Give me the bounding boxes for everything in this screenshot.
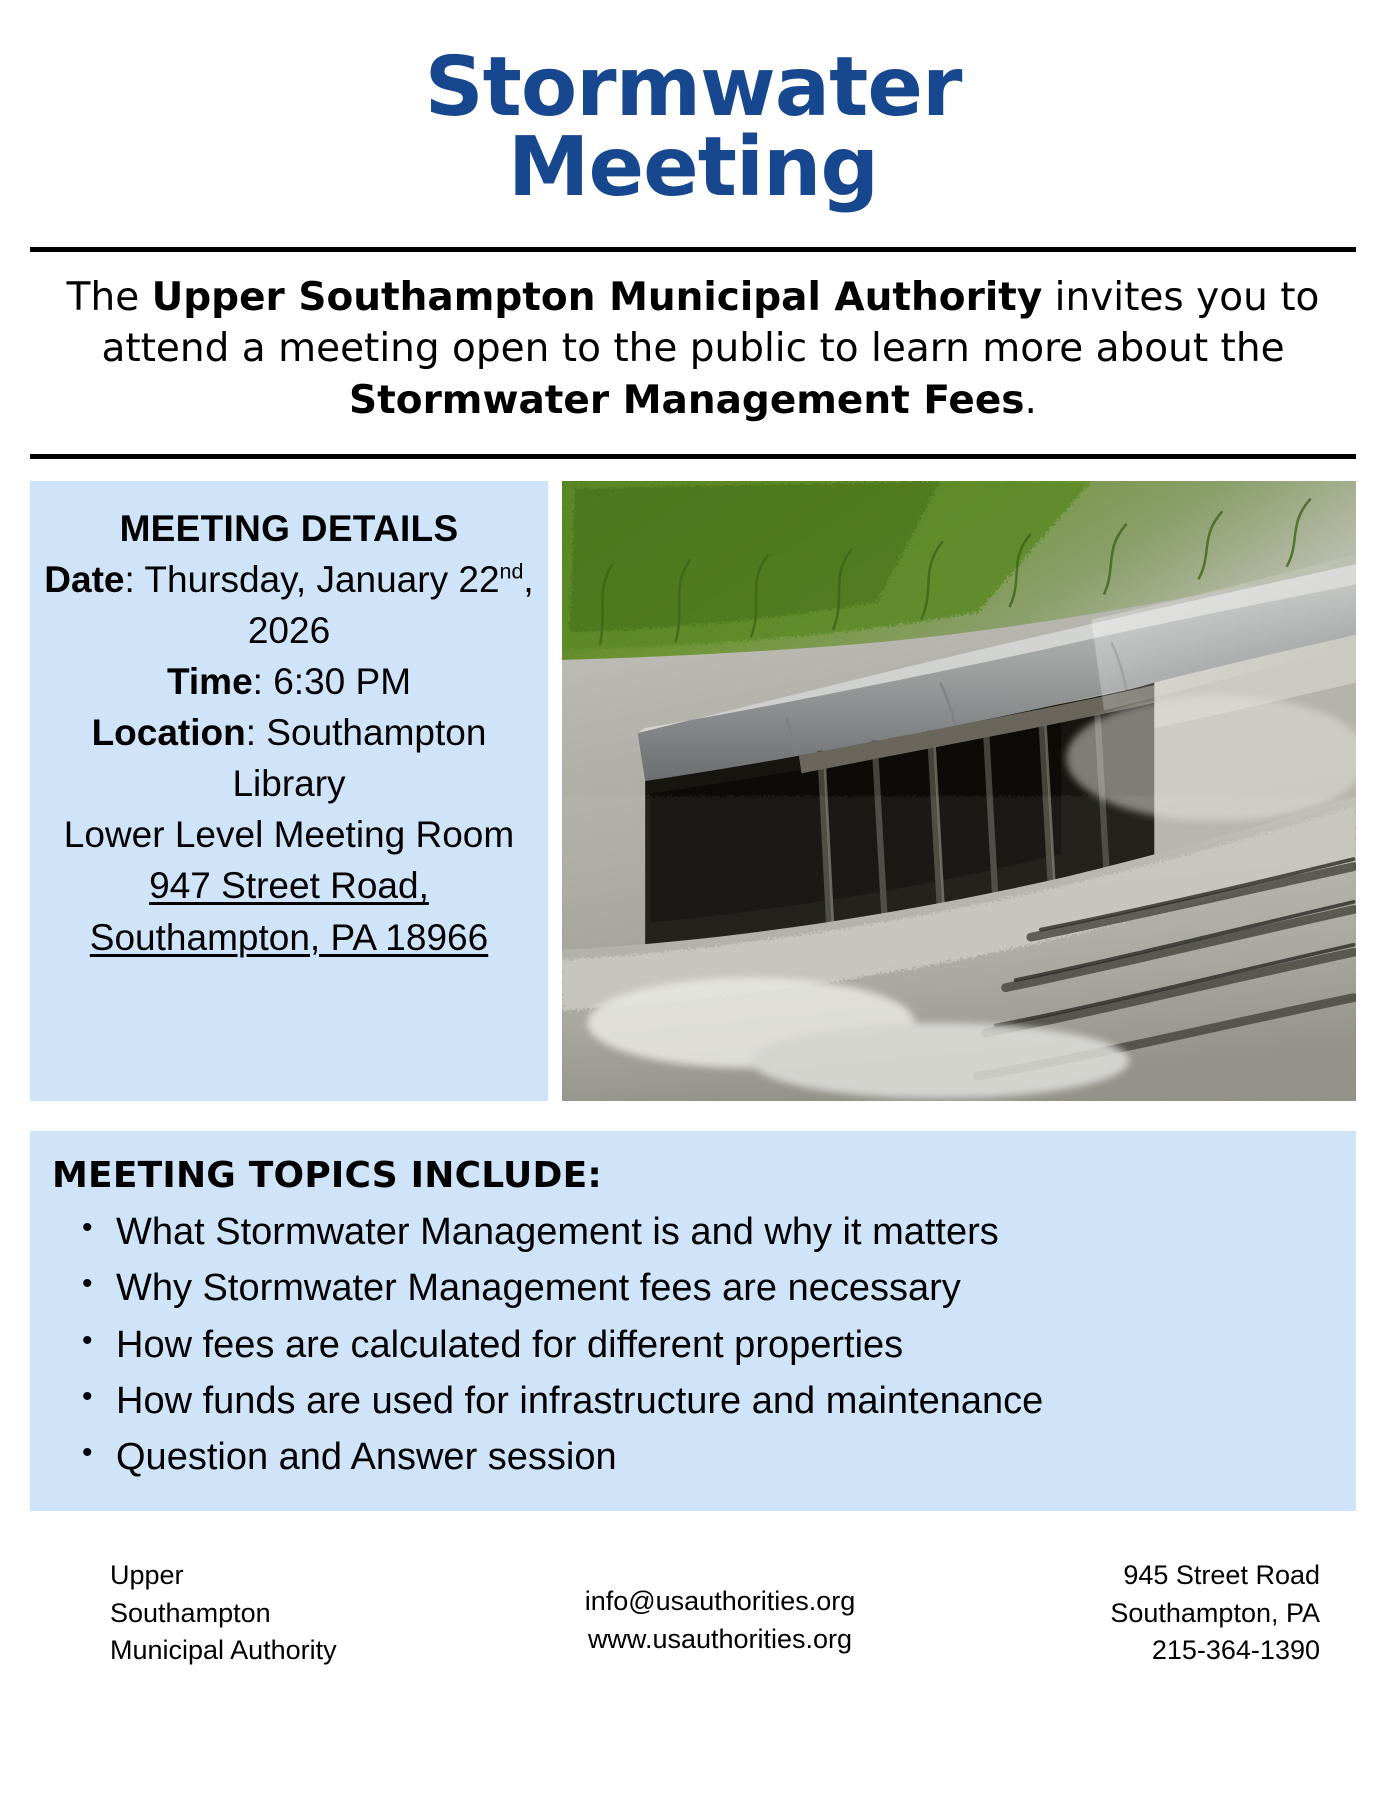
intro-part-3: . xyxy=(1025,378,1037,423)
meeting-details-box: MEETING DETAILS Date: Thursday, January … xyxy=(30,481,548,1101)
footer-org-line-1: Upper xyxy=(110,1557,450,1594)
page-title: Stormwater Meeting xyxy=(30,0,1356,209)
meeting-topics-box: MEETING TOPICS INCLUDE: What Stormwater … xyxy=(30,1131,1356,1511)
list-item: How fees are calculated for different pr… xyxy=(116,1317,1334,1373)
footer-email[interactable]: info@usauthorities.org xyxy=(450,1583,990,1620)
details-and-photo-section: MEETING DETAILS Date: Thursday, January … xyxy=(30,481,1356,1101)
footer-org-line-2: Southampton xyxy=(110,1595,450,1632)
footer-contact: info@usauthorities.org www.usauthorities… xyxy=(450,1557,990,1669)
date-separator: : xyxy=(125,559,145,600)
list-item: Why Stormwater Management fees are neces… xyxy=(116,1260,1334,1316)
time-value: : 6:30 PM xyxy=(253,661,411,702)
meeting-address-line-2[interactable]: Southampton, PA 18966 xyxy=(42,912,536,963)
intro-part-1: The xyxy=(67,275,152,320)
footer: Upper Southampton Municipal Authority in… xyxy=(30,1557,1356,1669)
meeting-topics-list: What Stormwater Management is and why it… xyxy=(52,1204,1334,1485)
list-item: How funds are used for infrastructure an… xyxy=(116,1373,1334,1429)
stormwater-culvert-photo xyxy=(562,481,1356,1101)
meeting-details-heading: MEETING DETAILS xyxy=(42,503,536,554)
footer-address-line-2: Southampton, PA xyxy=(990,1595,1320,1632)
footer-website[interactable]: www.usauthorities.org xyxy=(450,1621,990,1658)
meeting-location-row: Location: Southampton Library xyxy=(42,707,536,809)
title-line-1: Stormwater xyxy=(30,48,1356,128)
footer-phone[interactable]: 215-364-1390 xyxy=(990,1632,1320,1669)
meeting-time-row: Time: 6:30 PM xyxy=(42,656,536,707)
meeting-address-line-1[interactable]: 947 Street Road, xyxy=(42,860,536,911)
list-item: Question and Answer session xyxy=(116,1429,1334,1485)
title-line-2: Meeting xyxy=(30,128,1356,208)
location-label: Location xyxy=(92,712,246,753)
footer-address-line-1: 945 Street Road xyxy=(990,1557,1320,1594)
location-value: : Southampton Library xyxy=(232,712,486,804)
footer-org-line-3: Municipal Authority xyxy=(110,1632,450,1669)
meeting-room: Lower Level Meeting Room xyxy=(42,809,536,860)
time-label: Time xyxy=(167,661,253,702)
footer-address: 945 Street Road Southampton, PA 215-364-… xyxy=(990,1557,1320,1669)
list-item: What Stormwater Management is and why it… xyxy=(116,1204,1334,1260)
intro-bold-fees: Stormwater Management Fees xyxy=(349,378,1024,423)
date-value-a: Thursday, January 22 xyxy=(144,559,499,600)
divider-bottom xyxy=(30,454,1356,459)
footer-organization: Upper Southampton Municipal Authority xyxy=(110,1557,450,1669)
date-label: Date xyxy=(44,559,124,600)
date-ordinal-suffix: nd xyxy=(500,560,524,584)
meeting-topics-heading: MEETING TOPICS INCLUDE: xyxy=(52,1155,1334,1196)
flyer-page: Stormwater Meeting The Upper Southampton… xyxy=(0,0,1386,1793)
intro-bold-authority: Upper Southampton Municipal Authority xyxy=(152,275,1043,320)
meeting-date-row: Date: Thursday, January 22nd, 2026 xyxy=(42,554,536,656)
intro-paragraph: The Upper Southampton Municipal Authorit… xyxy=(30,252,1356,444)
